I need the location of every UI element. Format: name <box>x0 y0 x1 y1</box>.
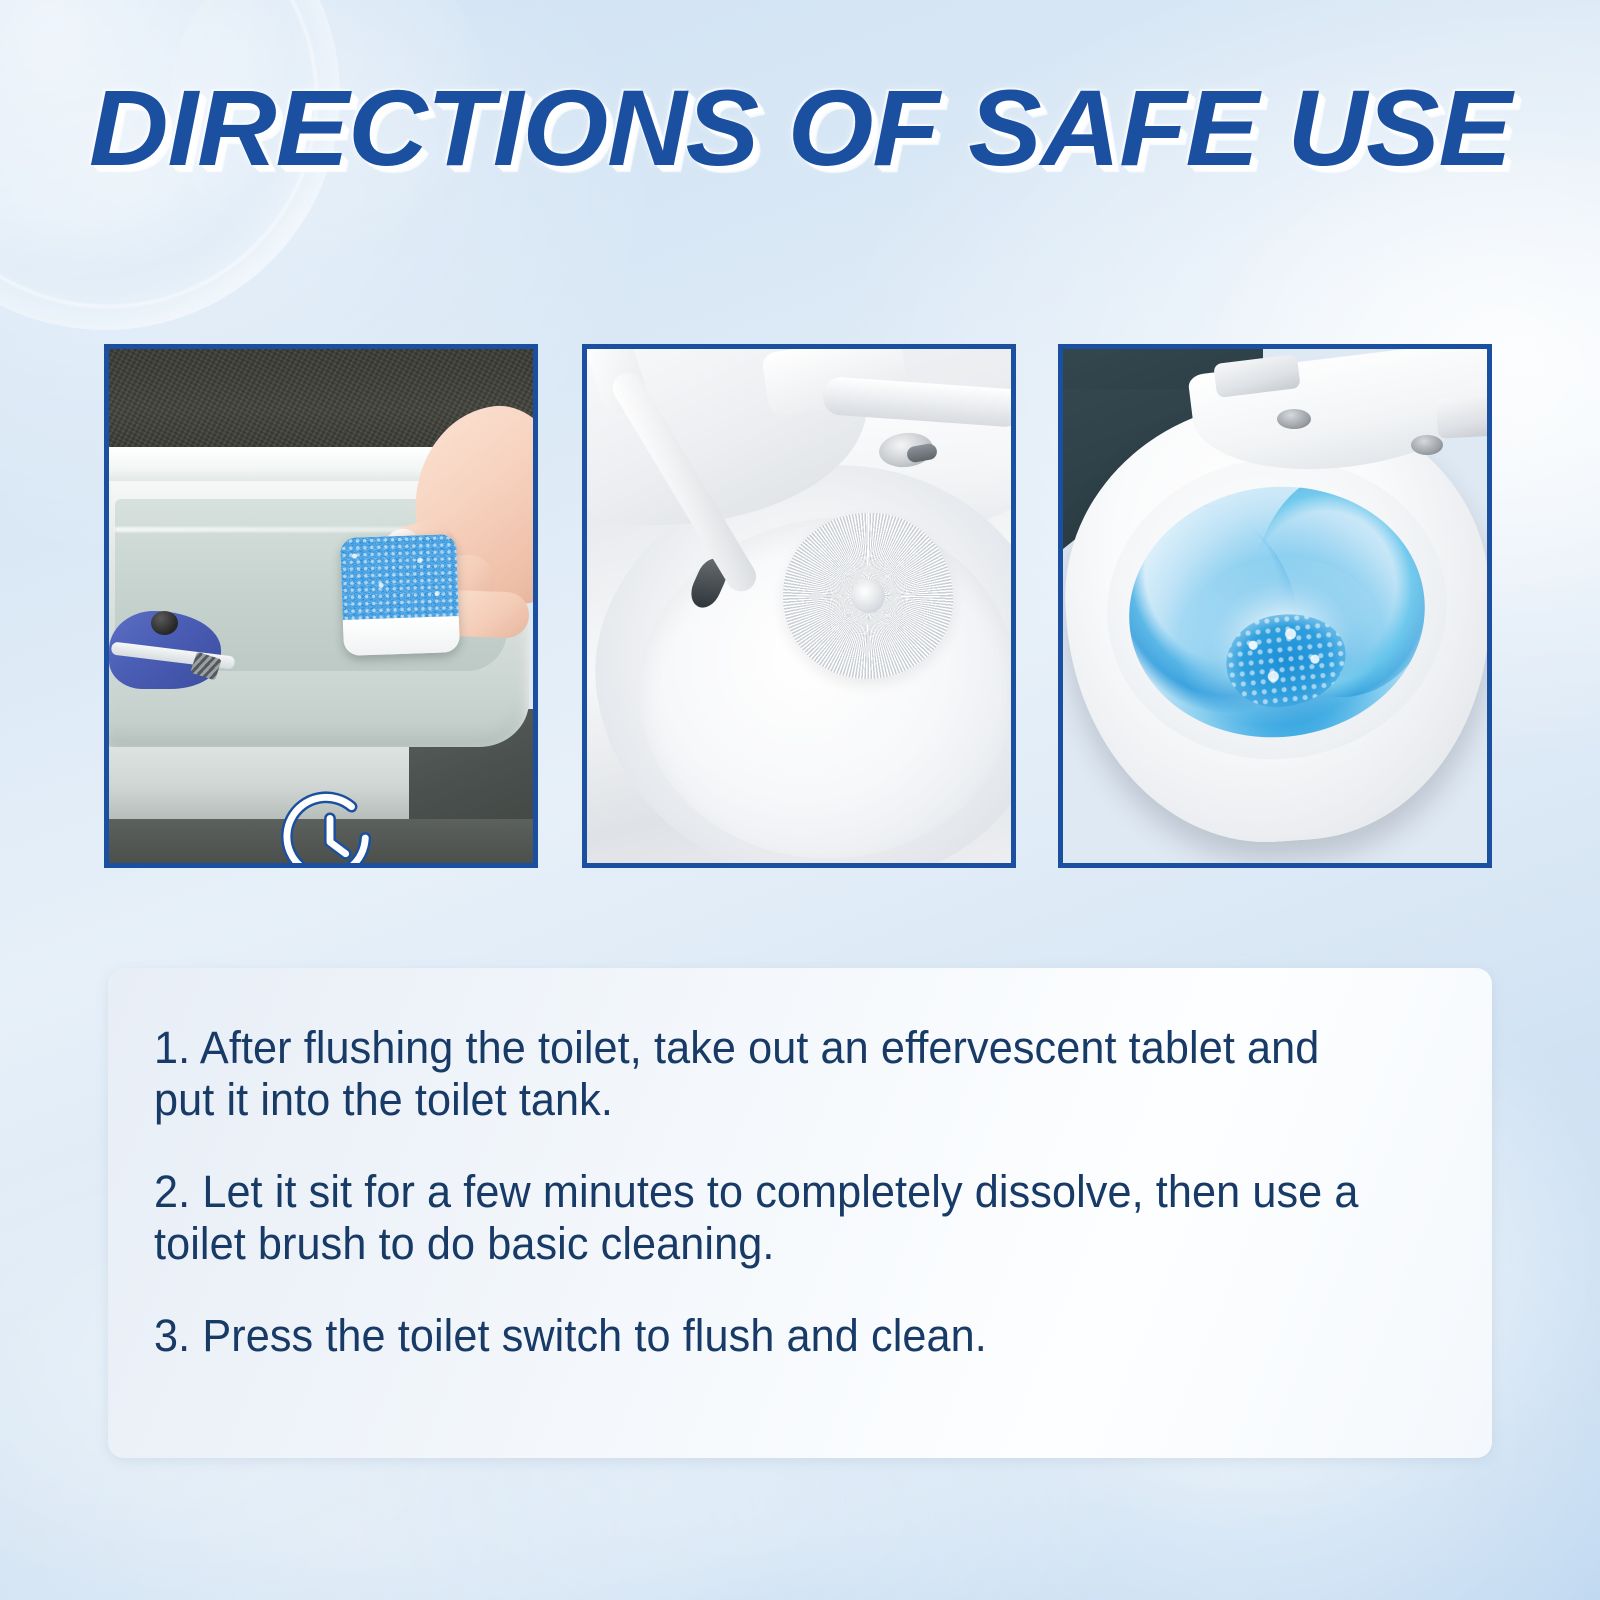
instruction-step-2: 2. Let it sit for a few minutes to compl… <box>154 1166 1385 1270</box>
step-2-photo-frame <box>582 344 1016 868</box>
photo-gallery <box>104 344 1492 868</box>
step-2-photo <box>587 349 1011 863</box>
blue-foam-bubbles <box>1222 608 1351 712</box>
step-3-photo <box>1063 349 1487 863</box>
page-title: DIRECTIONS OF SAFE USE <box>0 72 1600 184</box>
step-3-photo-frame <box>1058 344 1492 868</box>
toilet-brush-bristles <box>783 513 953 679</box>
tablet-white-layer <box>343 616 460 656</box>
poster-canvas: DIRECTIONS OF SAFE USE <box>0 0 1600 1600</box>
clock-icon <box>281 791 379 863</box>
effervescent-tablet <box>340 534 460 656</box>
seat-hinge <box>1277 409 1311 429</box>
step-1-photo-frame <box>104 344 538 868</box>
instruction-step-1: 1. After flushing the toilet, take out a… <box>154 1022 1385 1126</box>
instruction-step-3: 3. Press the toilet switch to flush and … <box>154 1310 1385 1362</box>
tank-knob <box>151 611 178 635</box>
seat-bumper <box>1436 395 1487 438</box>
step-1-photo <box>109 349 533 863</box>
instructions-panel: 1. After flushing the toilet, take out a… <box>108 968 1492 1458</box>
tablet-blue-layer <box>340 534 459 622</box>
seat-hinge <box>1411 435 1443 455</box>
